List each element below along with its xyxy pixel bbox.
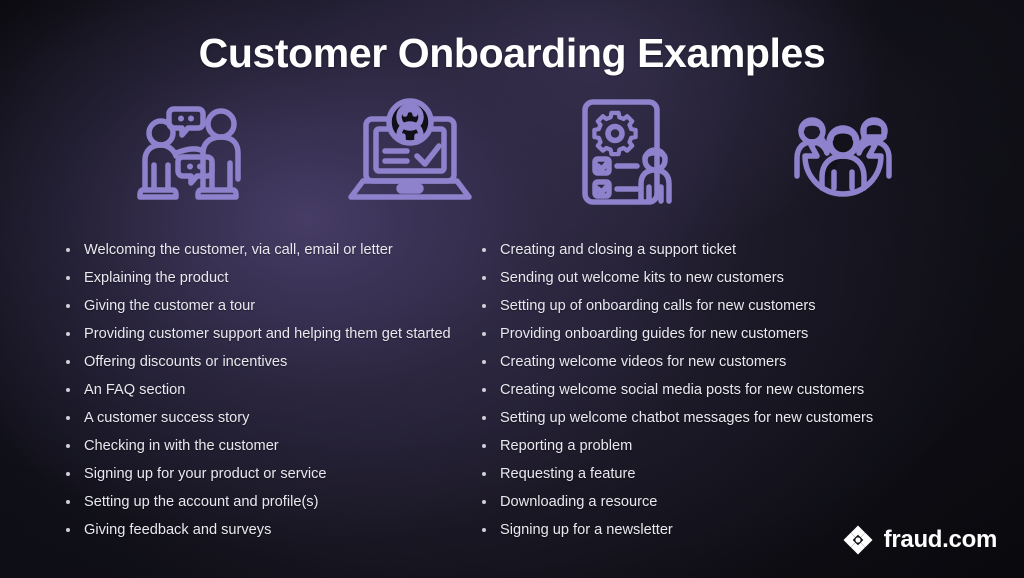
list-item-label: Creating welcome videos for new customer… [500,354,786,370]
list-item: Giving the customer a tour [62,292,470,320]
list-item-label: A customer success story [84,410,249,426]
bullet-dot-icon [66,416,70,420]
bullet-dot-icon [482,332,486,336]
page-title: Customer Onboarding Examples [0,30,1024,77]
brand-wordmark: fraud.com [884,526,997,554]
bullet-dot-icon [482,500,486,504]
list-item: Creating welcome social media posts for … [478,376,1024,404]
list-item-label: Providing customer support and helping t… [84,326,451,342]
bullet-dot-icon [66,444,70,448]
list-item: Setting up of onboarding calls for new c… [478,292,1024,320]
list-item-label: Requesting a feature [500,466,636,482]
right-bullet-list: Creating and closing a support ticket Se… [478,236,1024,544]
list-item-label: Signing up for your product or service [84,466,327,482]
list-item-label: Giving the customer a tour [84,298,255,314]
list-item: An FAQ section [62,376,470,404]
list-item-label: Setting up of onboarding calls for new c… [500,298,816,314]
bullet-columns: Welcoming the customer, via call, email … [0,236,1024,544]
list-item: Sending out welcome kits to new customer… [478,264,1024,292]
list-item: Setting up welcome chatbot messages for … [478,404,1024,432]
right-column: Creating and closing a support ticket Se… [470,236,1024,544]
list-item: Providing onboarding guides for new cust… [478,320,1024,348]
bullet-dot-icon [66,248,70,252]
list-item: Welcoming the customer, via call, email … [62,236,470,264]
left-bullet-list: Welcoming the customer, via call, email … [62,236,470,544]
bullet-dot-icon [66,360,70,364]
bullet-dot-icon [66,500,70,504]
list-item-label: Providing onboarding guides for new cust… [500,326,808,342]
two-people-talking-icon [108,96,278,208]
list-item-label: Reporting a problem [500,438,632,454]
checklist-gear-person-icon [541,96,711,208]
list-item-label: Setting up the account and profile(s) [84,494,318,510]
list-item: Creating welcome videos for new customer… [478,348,1024,376]
bullet-dot-icon [66,332,70,336]
list-item: Explaining the product [62,264,470,292]
list-item-label: Creating and closing a support ticket [500,242,736,258]
icon-row [108,96,928,208]
slide-canvas: Customer Onboarding Examples [0,0,1024,578]
list-item: Giving feedback and surveys [62,516,470,544]
list-item: Signing up for your product or service [62,460,470,488]
bullet-dot-icon [66,528,70,532]
bullet-dot-icon [66,304,70,308]
bullet-dot-icon [482,304,486,308]
bullet-dot-icon [66,276,70,280]
bullet-dot-icon [482,360,486,364]
list-item-label: Signing up for a newsletter [500,522,673,538]
list-item: A customer success story [62,404,470,432]
team-group-gear-icon [758,96,928,208]
list-item: Downloading a resource [478,488,1024,516]
laptop-user-checkmark-icon [325,96,495,208]
bullet-dot-icon [482,276,486,280]
list-item-label: Downloading a resource [500,494,657,510]
bullet-dot-icon [66,388,70,392]
list-item-label: Welcoming the customer, via call, email … [84,242,393,258]
list-item: Checking in with the customer [62,432,470,460]
list-item-label: Setting up welcome chatbot messages for … [500,410,873,426]
left-column: Welcoming the customer, via call, email … [0,236,470,544]
bullet-dot-icon [482,444,486,448]
list-item: Providing customer support and helping t… [62,320,470,348]
list-item: Creating and closing a support ticket [478,236,1024,264]
list-item: Requesting a feature [478,460,1024,488]
list-item-label: Creating welcome social media posts for … [500,382,864,398]
list-item-label: Sending out welcome kits to new customer… [500,270,784,286]
list-item: Offering discounts or incentives [62,348,470,376]
bullet-dot-icon [482,388,486,392]
list-item-label: An FAQ section [84,382,185,398]
list-item-label: Giving feedback and surveys [84,522,271,538]
bullet-dot-icon [66,472,70,476]
list-item: Setting up the account and profile(s) [62,488,470,516]
list-item-label: Explaining the product [84,270,228,286]
bullet-dot-icon [482,528,486,532]
list-item: Reporting a problem [478,432,1024,460]
list-item-label: Checking in with the customer [84,438,279,454]
list-item-label: Offering discounts or incentives [84,354,287,370]
bullet-dot-icon [482,248,486,252]
bullet-dot-icon [482,416,486,420]
brand-logo: fraud.com [842,524,997,556]
bullet-dot-icon [482,472,486,476]
fraud-com-logo-mark [842,524,874,556]
